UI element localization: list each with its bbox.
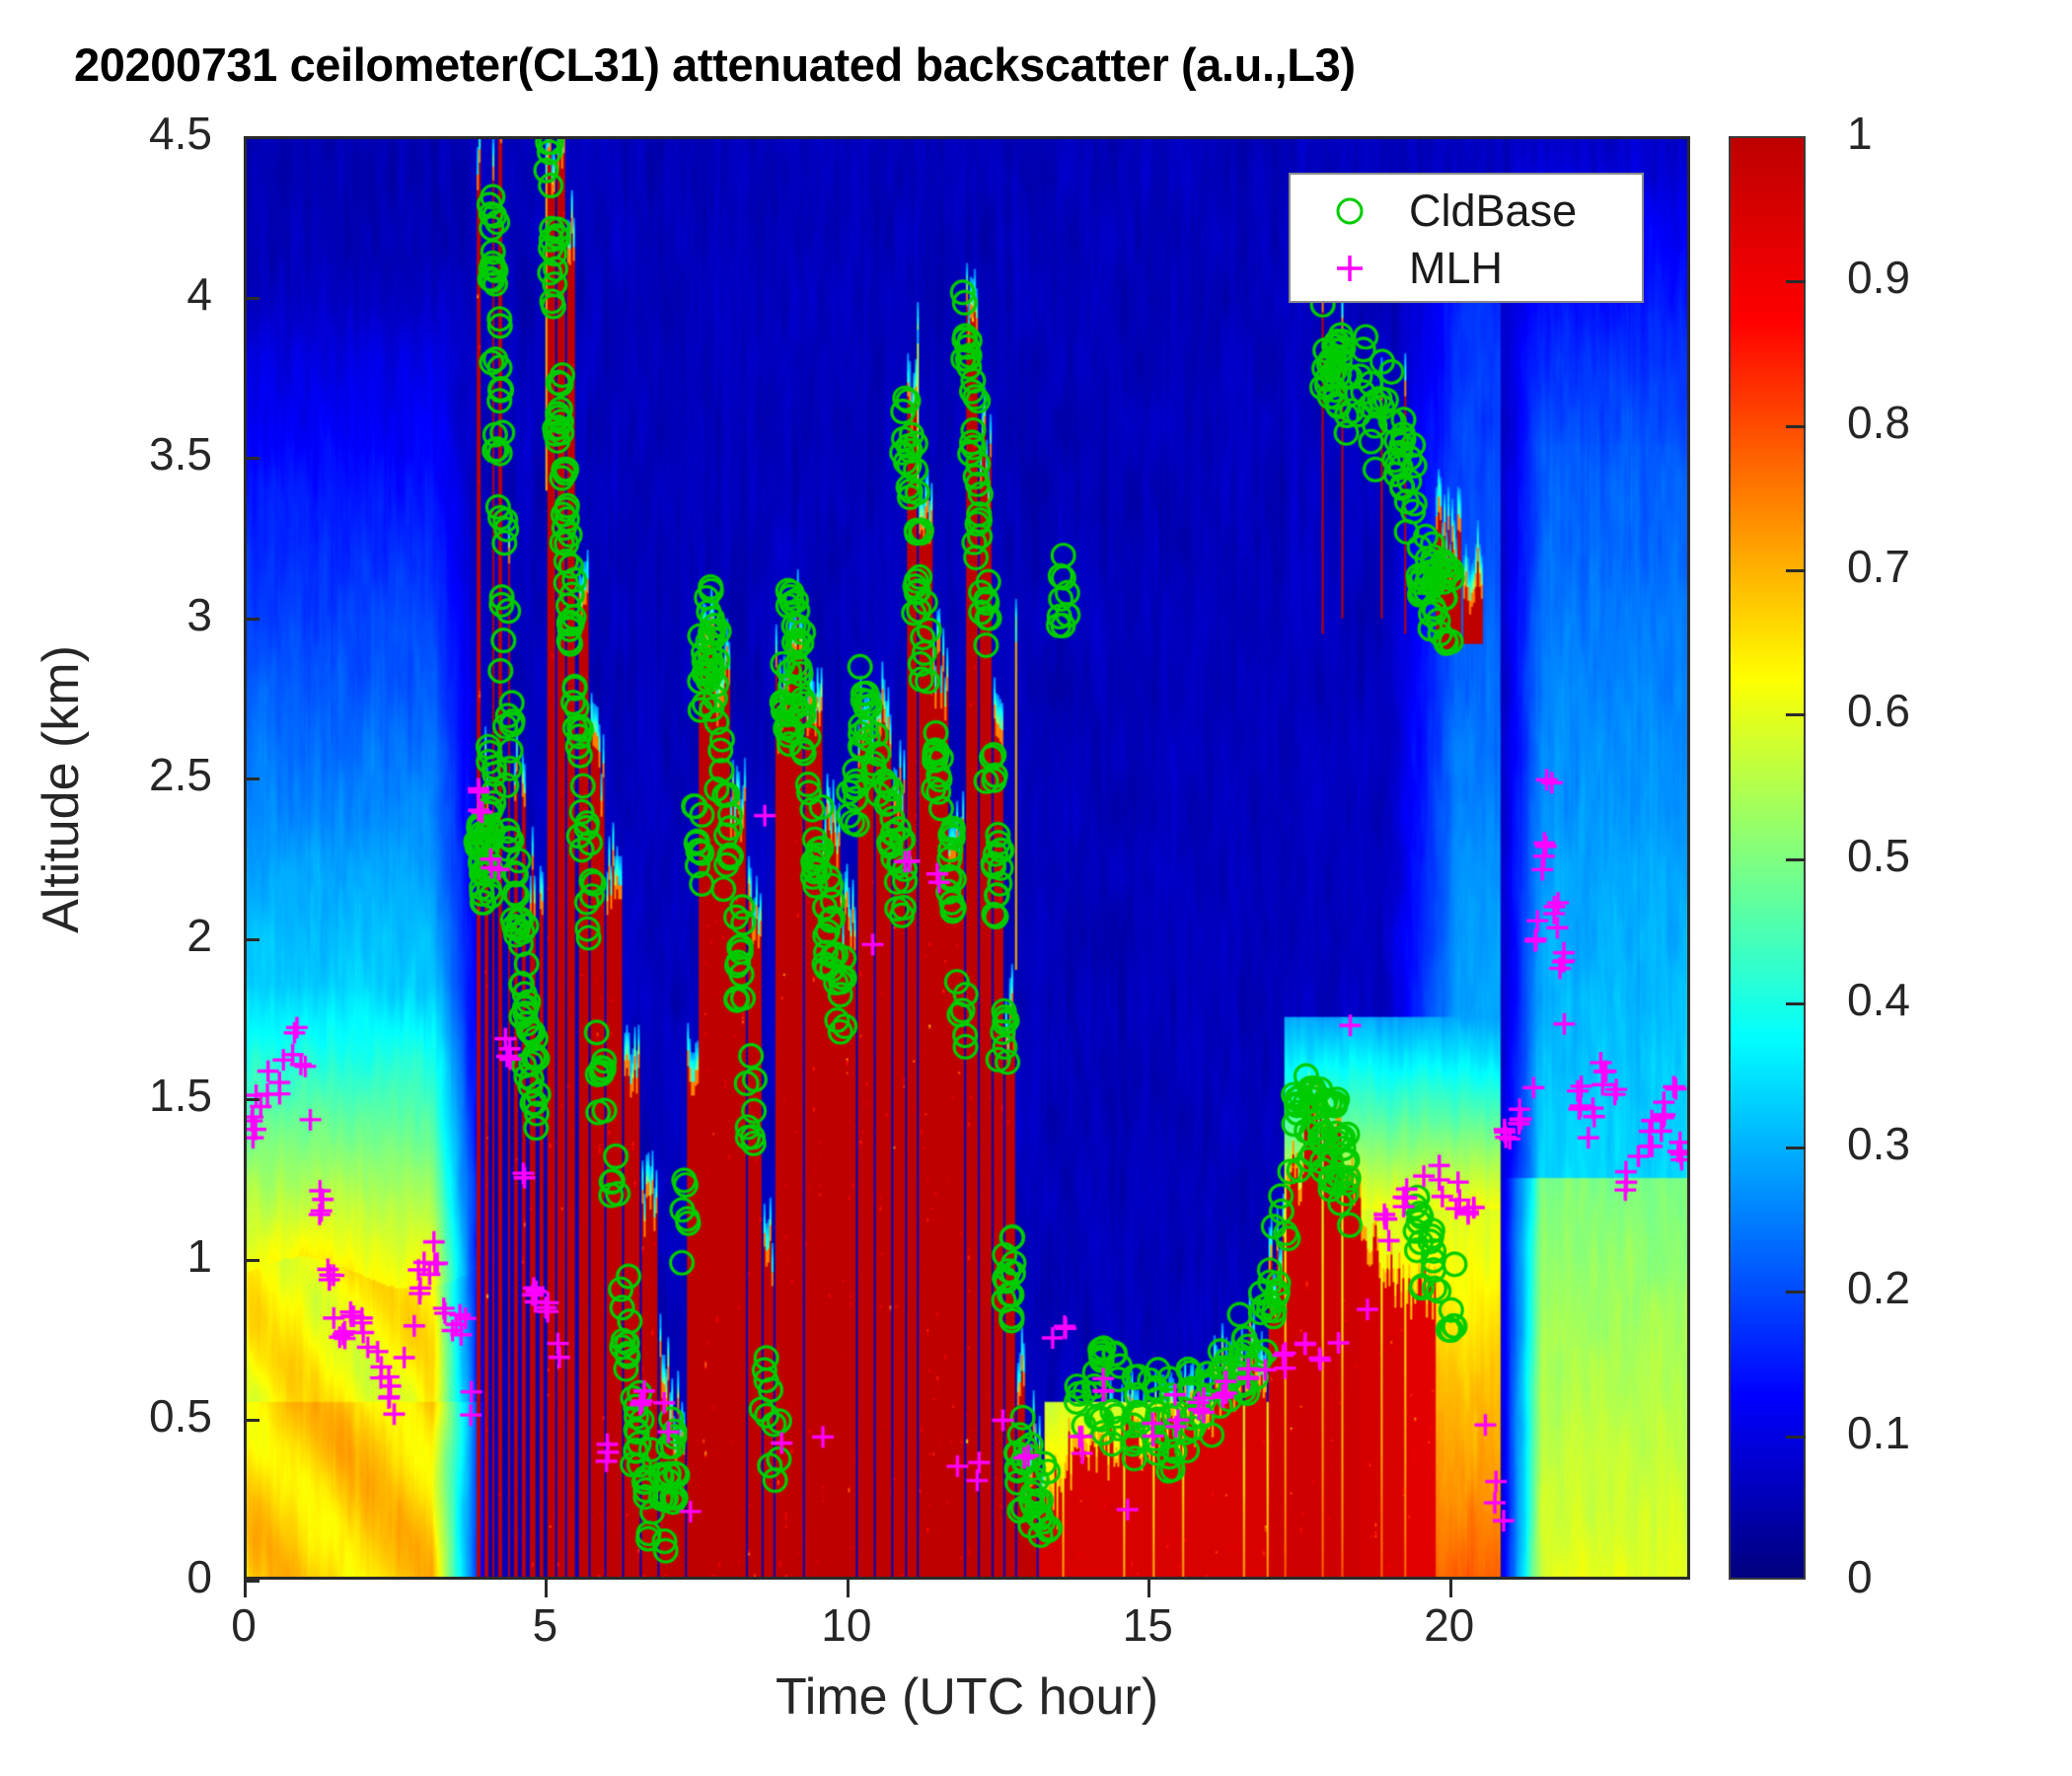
y-tick-mark — [244, 1098, 259, 1101]
x-tick-label: 5 — [485, 1598, 604, 1652]
legend-label-cldbase: CldBase — [1409, 183, 1577, 240]
colorbar-tick-label: 0.1 — [1847, 1406, 1910, 1459]
y-tick-mark — [244, 1259, 259, 1262]
colorbar-tick-mark — [1786, 1002, 1806, 1005]
y-tick-label: 3.5 — [0, 427, 212, 481]
colorbar-tick-label: 0 — [1847, 1550, 1873, 1603]
y-tick-label: 1.5 — [0, 1069, 212, 1122]
circle-marker-icon — [1291, 183, 1409, 240]
colorbar-tick-mark — [1786, 569, 1806, 572]
marker-overlay — [247, 139, 1687, 1577]
chart-legend: CldBase MLH — [1289, 173, 1644, 303]
colorbar-tick-mark — [1786, 280, 1806, 283]
colorbar-tick-label: 1 — [1847, 107, 1873, 160]
y-tick-mark — [244, 1419, 259, 1422]
colorbar-tick-label: 0.2 — [1847, 1261, 1910, 1314]
colorbar-tick-mark — [1786, 858, 1806, 861]
colorbar-tick-label: 0.9 — [1847, 251, 1910, 304]
x-tick-mark — [1449, 1580, 1452, 1597]
y-tick-mark — [244, 297, 259, 300]
y-tick-label: 0.5 — [0, 1389, 212, 1443]
x-tick-label: 20 — [1390, 1598, 1509, 1652]
y-tick-label: 2 — [0, 909, 212, 962]
colorbar-tick-label: 0.8 — [1847, 396, 1910, 449]
y-tick-label: 3 — [0, 588, 212, 641]
colorbar-tick-label: 0.6 — [1847, 684, 1910, 737]
page-title: 20200731 ceilometer(CL31) attenuated bac… — [74, 37, 1949, 97]
y-tick-label: 4 — [0, 267, 212, 321]
legend-label-mlh: MLH — [1409, 240, 1503, 297]
colorbar-tick-mark — [1786, 1436, 1806, 1439]
y-tick-mark — [244, 938, 259, 941]
y-tick-label: 1 — [0, 1229, 212, 1283]
x-tick-label: 0 — [185, 1598, 303, 1652]
colorbar-tick-mark — [1786, 425, 1806, 428]
y-tick-mark — [244, 777, 259, 780]
y-tick-label: 4.5 — [0, 107, 212, 160]
colorbar-tick-label: 0.3 — [1847, 1117, 1910, 1170]
x-axis-label: Time (UTC hour) — [244, 1667, 1690, 1727]
plus-marker-icon — [1291, 240, 1409, 297]
colorbar-tick-mark — [1786, 1291, 1806, 1294]
colorbar-tick-mark — [1786, 1147, 1806, 1149]
chart-figure: 20200731 ceilometer(CL31) attenuated bac… — [0, 0, 2072, 1776]
colorbar-tick-label: 0.5 — [1847, 829, 1910, 882]
x-tick-label: 10 — [787, 1598, 906, 1652]
x-tick-mark — [1147, 1580, 1150, 1597]
legend-item-cldbase: CldBase — [1291, 183, 1642, 240]
colorbar-tick-label: 0.4 — [1847, 973, 1910, 1026]
heatmap-plot-area — [244, 136, 1690, 1580]
colorbar-tick-mark — [1786, 713, 1806, 716]
colorbar: 00.10.20.30.40.50.60.70.80.91 — [1729, 136, 2064, 1580]
x-tick-mark — [847, 1580, 850, 1597]
x-tick-mark — [545, 1580, 548, 1597]
y-tick-mark — [244, 457, 259, 460]
x-tick-label: 15 — [1088, 1598, 1207, 1652]
y-tick-mark — [244, 136, 259, 139]
legend-item-mlh: MLH — [1291, 240, 1642, 297]
y-tick-label: 2.5 — [0, 748, 212, 801]
colorbar-tick-label: 0.7 — [1847, 540, 1910, 593]
x-tick-mark — [244, 1580, 247, 1597]
y-tick-mark — [244, 618, 259, 621]
y-tick-label: 0 — [0, 1550, 212, 1603]
